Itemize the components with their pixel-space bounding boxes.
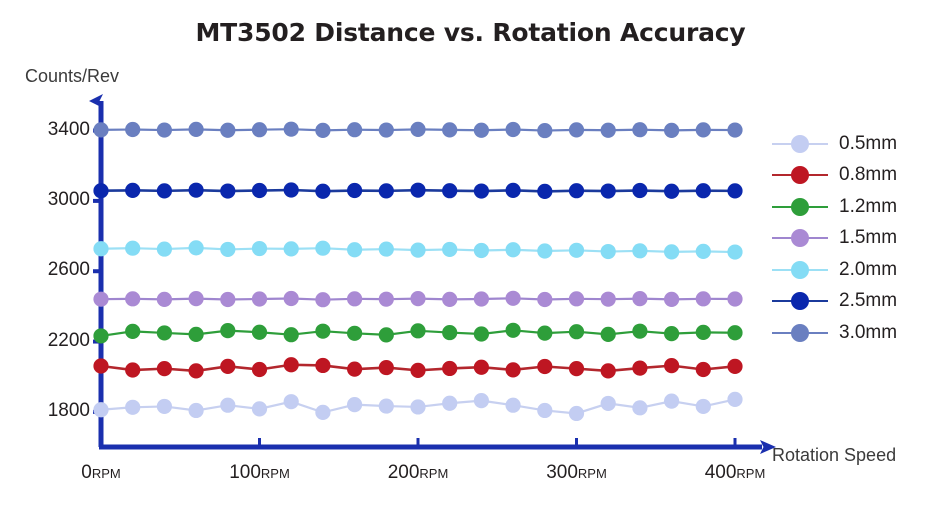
data-point-marker [410, 399, 425, 414]
legend-swatch-icon [772, 135, 828, 153]
legend-item-1-2mm[interactable]: 1.2mm [772, 191, 932, 223]
data-point-marker [664, 184, 679, 199]
data-point-marker [474, 123, 489, 138]
data-point-marker [601, 244, 616, 259]
data-series [93, 392, 742, 421]
data-point-marker [664, 394, 679, 409]
data-point-marker [632, 291, 647, 306]
data-point-marker [189, 363, 204, 378]
data-point-marker [474, 291, 489, 306]
legend-swatch-icon [772, 324, 828, 342]
data-point-marker [315, 324, 330, 339]
data-point-marker [347, 183, 362, 198]
data-point-marker [632, 122, 647, 137]
data-point-marker [379, 327, 394, 342]
data-point-marker [252, 241, 267, 256]
data-point-marker [696, 399, 711, 414]
data-point-marker [93, 122, 108, 137]
data-point-marker [664, 292, 679, 307]
data-point-marker [189, 291, 204, 306]
legend-swatch-icon [772, 198, 828, 216]
data-point-marker [284, 291, 299, 306]
data-point-marker [125, 241, 140, 256]
legend-label: 0.8mm [828, 164, 897, 186]
data-point-marker [474, 243, 489, 258]
data-point-marker [284, 357, 299, 372]
data-point-marker [157, 183, 172, 198]
data-point-marker [252, 291, 267, 306]
data-point-marker [220, 292, 235, 307]
data-point-marker [220, 123, 235, 138]
data-point-marker [189, 240, 204, 255]
data-point-marker [93, 183, 108, 198]
data-point-marker [410, 122, 425, 137]
data-point-marker [93, 241, 108, 256]
data-point-marker [189, 183, 204, 198]
data-point-marker [189, 403, 204, 418]
data-point-marker [220, 183, 235, 198]
data-point-marker [505, 183, 520, 198]
legend-marker-dot [791, 261, 809, 279]
data-point-marker [220, 398, 235, 413]
data-point-marker [347, 242, 362, 257]
data-point-marker [505, 362, 520, 377]
data-point-marker [474, 183, 489, 198]
data-point-marker [569, 183, 584, 198]
data-point-marker [727, 291, 742, 306]
data-point-marker [601, 183, 616, 198]
data-point-marker [347, 326, 362, 341]
data-point-marker [157, 292, 172, 307]
data-point-marker [696, 244, 711, 259]
data-point-marker [727, 325, 742, 340]
legend-item-0-5mm[interactable]: 0.5mm [772, 128, 932, 160]
axis-ticks [93, 131, 735, 445]
data-point-marker [379, 183, 394, 198]
legend-label: 1.5mm [828, 227, 897, 249]
data-point-marker [505, 122, 520, 137]
data-series [93, 291, 742, 308]
data-point-marker [347, 397, 362, 412]
data-point-marker [252, 183, 267, 198]
data-point-marker [569, 406, 584, 421]
data-point-marker [442, 361, 457, 376]
legend-marker-dot [791, 324, 809, 342]
data-point-marker [410, 363, 425, 378]
legend-marker-dot [791, 198, 809, 216]
legend-item-2-0mm[interactable]: 2.0mm [772, 254, 932, 286]
data-point-marker [157, 241, 172, 256]
data-point-marker [632, 400, 647, 415]
legend-marker-dot [791, 166, 809, 184]
data-point-marker [727, 392, 742, 407]
data-point-marker [664, 123, 679, 138]
data-point-marker [505, 398, 520, 413]
data-point-marker [284, 122, 299, 137]
data-point-marker [315, 405, 330, 420]
data-series [93, 122, 742, 139]
legend-label: 2.5mm [828, 290, 897, 312]
data-point-marker [379, 292, 394, 307]
data-point-marker [379, 398, 394, 413]
data-point-marker [252, 325, 267, 340]
data-point-marker [537, 292, 552, 307]
data-point-marker [93, 328, 108, 343]
data-point-marker [125, 122, 140, 137]
legend-swatch-icon [772, 261, 828, 279]
data-point-marker [379, 241, 394, 256]
data-point-marker [315, 184, 330, 199]
data-point-marker [696, 325, 711, 340]
data-point-marker [379, 122, 394, 137]
data-point-marker [474, 326, 489, 341]
data-point-marker [93, 402, 108, 417]
data-point-marker [696, 183, 711, 198]
data-point-marker [664, 358, 679, 373]
data-point-marker [410, 243, 425, 258]
data-series [93, 357, 742, 378]
data-point-marker [347, 122, 362, 137]
data-point-marker [537, 403, 552, 418]
data-series [93, 323, 742, 344]
legend-item-2-5mm[interactable]: 2.5mm [772, 286, 932, 318]
data-point-marker [696, 122, 711, 137]
data-point-marker [537, 326, 552, 341]
data-point-marker [410, 323, 425, 338]
data-series [93, 182, 742, 199]
data-point-marker [125, 183, 140, 198]
data-point-marker [442, 183, 457, 198]
legend-item-3-0mm[interactable]: 3.0mm [772, 317, 932, 349]
data-point-marker [601, 396, 616, 411]
data-point-marker [474, 360, 489, 375]
data-point-marker [93, 292, 108, 307]
data-point-marker [727, 183, 742, 198]
data-point-marker [601, 123, 616, 138]
data-point-marker [220, 242, 235, 257]
data-point-marker [189, 327, 204, 342]
data-point-marker [410, 291, 425, 306]
data-point-marker [537, 243, 552, 258]
data-point-marker [727, 359, 742, 374]
data-point-marker [664, 244, 679, 259]
data-point-marker [727, 122, 742, 137]
legend-label: 0.5mm [828, 133, 897, 155]
legend-marker-dot [791, 292, 809, 310]
axis-lines [99, 101, 762, 447]
data-point-marker [632, 324, 647, 339]
data-point-marker [727, 244, 742, 259]
data-point-marker [379, 360, 394, 375]
data-point-marker [632, 361, 647, 376]
data-point-marker [284, 241, 299, 256]
data-point-marker [696, 362, 711, 377]
data-point-marker [125, 291, 140, 306]
legend-swatch-icon [772, 292, 828, 310]
legend-item-1-5mm[interactable]: 1.5mm [772, 223, 932, 255]
data-point-marker [505, 242, 520, 257]
data-point-marker [93, 358, 108, 373]
data-point-marker [601, 327, 616, 342]
data-point-marker [505, 291, 520, 306]
legend-label: 2.0mm [828, 259, 897, 281]
data-point-marker [125, 324, 140, 339]
data-point-marker [537, 123, 552, 138]
data-point-marker [632, 183, 647, 198]
data-point-marker [315, 241, 330, 256]
data-point-marker [157, 122, 172, 137]
chart-legend: 0.5mm0.8mm1.2mm1.5mm2.0mm2.5mm3.0mm [772, 128, 932, 349]
data-point-marker [664, 326, 679, 341]
data-point-marker [505, 323, 520, 338]
data-point-marker [569, 291, 584, 306]
data-point-marker [442, 122, 457, 137]
data-point-marker [284, 394, 299, 409]
data-point-marker [537, 184, 552, 199]
data-point-marker [189, 122, 204, 137]
data-point-marker [157, 399, 172, 414]
data-point-marker [474, 393, 489, 408]
data-point-marker [347, 291, 362, 306]
data-point-marker [442, 396, 457, 411]
data-point-marker [125, 362, 140, 377]
data-point-marker [252, 122, 267, 137]
legend-marker-dot [791, 229, 809, 247]
data-point-marker [601, 292, 616, 307]
legend-label: 1.2mm [828, 196, 897, 218]
data-point-marker [569, 324, 584, 339]
data-point-marker [157, 325, 172, 340]
data-point-marker [284, 327, 299, 342]
legend-marker-dot [791, 135, 809, 153]
data-point-marker [442, 325, 457, 340]
data-point-marker [569, 243, 584, 258]
data-point-marker [347, 362, 362, 377]
data-point-marker [315, 292, 330, 307]
data-point-marker [569, 361, 584, 376]
data-point-marker [569, 122, 584, 137]
data-series [93, 240, 742, 259]
data-point-marker [315, 123, 330, 138]
data-point-marker [284, 182, 299, 197]
legend-swatch-icon [772, 166, 828, 184]
data-point-marker [537, 359, 552, 374]
data-point-marker [696, 291, 711, 306]
data-point-marker [442, 292, 457, 307]
data-point-marker [410, 183, 425, 198]
legend-label: 3.0mm [828, 322, 897, 344]
data-point-marker [220, 359, 235, 374]
data-point-marker [252, 401, 267, 416]
data-point-marker [315, 358, 330, 373]
chart-container: MT3502 Distance vs. Rotation Accuracy Co… [0, 0, 941, 514]
legend-item-0-8mm[interactable]: 0.8mm [772, 160, 932, 192]
data-point-marker [601, 363, 616, 378]
data-point-marker [157, 361, 172, 376]
data-point-marker [252, 362, 267, 377]
data-point-marker [125, 400, 140, 415]
data-point-marker [442, 242, 457, 257]
data-series-group [93, 122, 742, 421]
data-point-marker [632, 243, 647, 258]
legend-swatch-icon [772, 229, 828, 247]
data-point-marker [220, 323, 235, 338]
